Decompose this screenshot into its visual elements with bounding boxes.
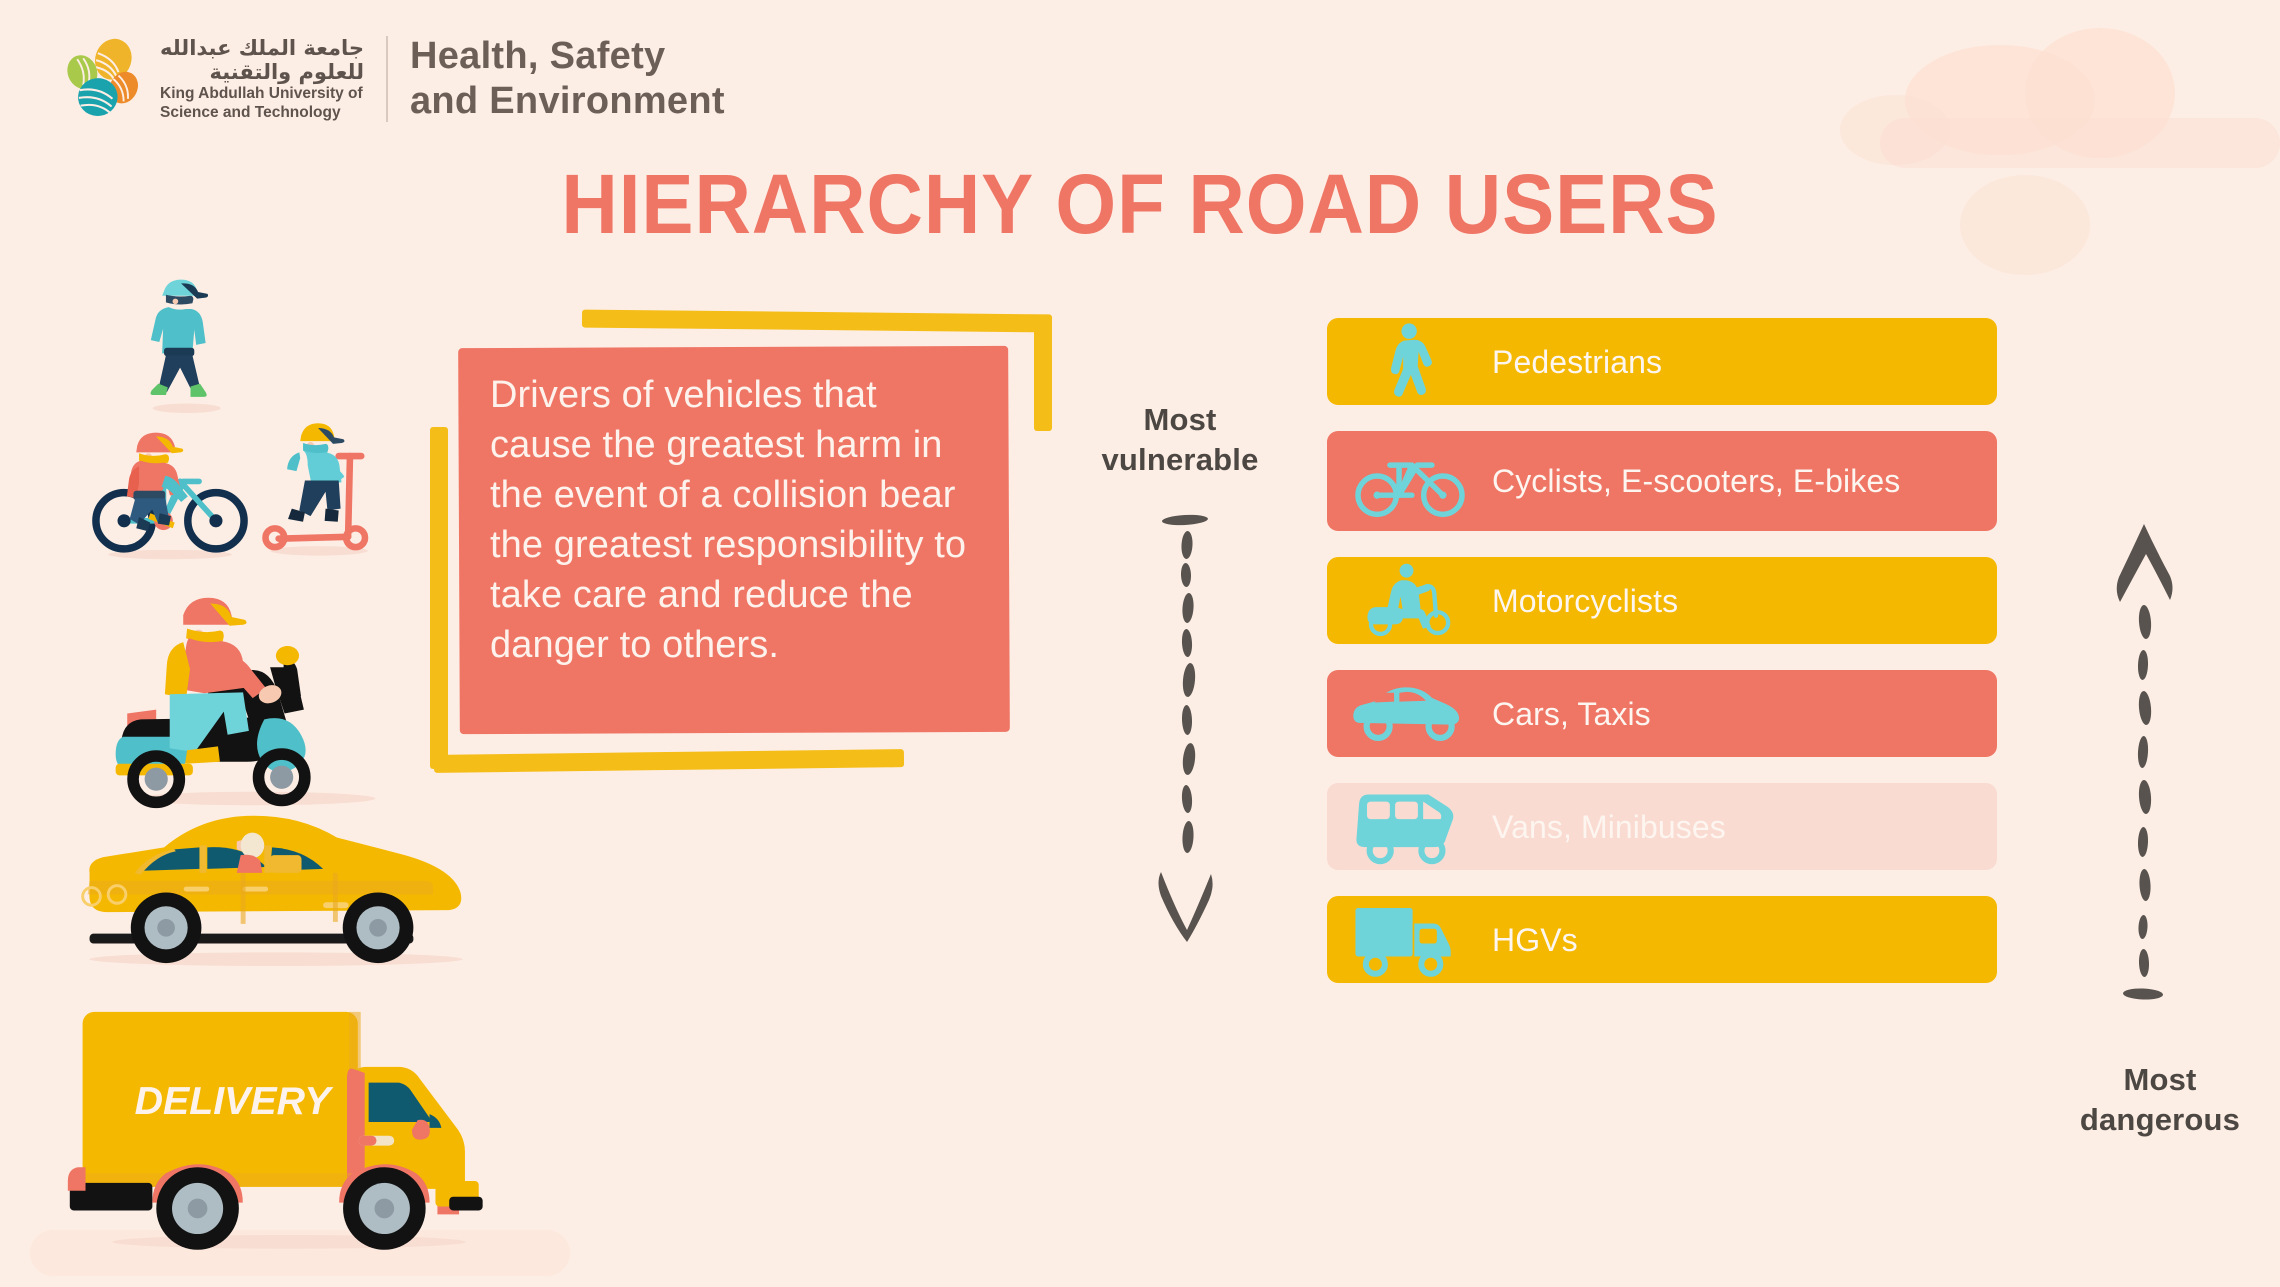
department-line2: and Environment bbox=[410, 79, 725, 124]
department-line1: Health, Safety bbox=[410, 34, 725, 79]
quote-block: Drivers of vehicles that cause the great… bbox=[430, 312, 1050, 812]
hierarchy-label: HGVs bbox=[1492, 921, 1578, 959]
most-dangerous-line1: Most bbox=[2035, 1060, 2280, 1100]
frame-bottom-bar bbox=[434, 749, 904, 773]
arabic-name-line2: للعلوم والتقنية bbox=[160, 60, 364, 84]
hierarchy-label: Pedestrians bbox=[1492, 343, 1662, 381]
quote-text: Drivers of vehicles that cause the great… bbox=[490, 370, 982, 670]
hierarchy-row-cars[interactable]: Cars, Taxis bbox=[1327, 670, 1997, 757]
header-divider bbox=[386, 36, 388, 122]
most-vulnerable-line1: Most bbox=[1060, 400, 1300, 440]
frame-top-bar bbox=[582, 310, 1052, 333]
hierarchy-row-cyclists[interactable]: Cyclists, E-scooters, E-bikes bbox=[1327, 431, 1997, 531]
walking-pedestrian-illustration bbox=[130, 272, 234, 419]
hierarchy-label: Motorcyclists bbox=[1492, 582, 1678, 620]
hierarchy-row-pedestrians[interactable]: Pedestrians bbox=[1327, 318, 1997, 405]
dashed-arrow-up-icon bbox=[2090, 520, 2200, 1040]
delivery-truck-illustration: DELIVERY bbox=[58, 988, 520, 1259]
van-icon bbox=[1327, 783, 1492, 870]
arabic-name-line1: جامعة الملك عبدالله bbox=[160, 36, 364, 60]
most-dangerous-label: Most dangerous bbox=[2035, 1060, 2280, 1140]
truck-icon bbox=[1327, 896, 1492, 983]
moped-icon bbox=[1327, 557, 1492, 644]
hierarchy-row-motorcyclists[interactable]: Motorcyclists bbox=[1327, 557, 1997, 644]
yellow-car-illustration bbox=[60, 812, 492, 974]
kaust-petals-logo-icon bbox=[60, 36, 146, 122]
university-name-block: جامعة الملك عبدالله للعلوم والتقنية King… bbox=[160, 36, 364, 122]
dashed-arrow-down-icon bbox=[1130, 512, 1240, 1022]
department-name: Health, Safety and Environment bbox=[410, 34, 725, 124]
english-name-line2: Science and Technology bbox=[160, 103, 364, 122]
infographic-canvas: جامعة الملك عبدالله للعلوم والتقنية King… bbox=[0, 0, 2280, 1287]
cyclist-illustration bbox=[90, 412, 250, 567]
frame-left-bar bbox=[430, 427, 448, 769]
e-scooter-rider-illustration bbox=[258, 418, 380, 563]
hierarchy-label: Cars, Taxis bbox=[1492, 695, 1651, 733]
most-vulnerable-line2: vulnerable bbox=[1060, 440, 1300, 480]
moped-rider-illustration bbox=[80, 590, 410, 817]
hierarchy-bar-list: Pedestrians bbox=[1327, 318, 1997, 1009]
bicycle-icon bbox=[1327, 438, 1492, 525]
hierarchy-row-vans[interactable]: Vans, Minibuses bbox=[1327, 783, 1997, 870]
hierarchy-label: Vans, Minibuses bbox=[1492, 808, 1726, 846]
pedestrian-icon bbox=[1327, 318, 1492, 405]
hierarchy-label: Cyclists, E-scooters, E-bikes bbox=[1492, 462, 1900, 500]
english-name-line1: King Abdullah University of bbox=[160, 84, 364, 103]
frame-right-bar bbox=[1034, 316, 1052, 431]
car-icon bbox=[1327, 670, 1492, 757]
most-vulnerable-label: Most vulnerable bbox=[1060, 400, 1300, 480]
page-title: HIERARCHY OF ROAD USERS bbox=[80, 158, 2200, 250]
truck-livery-text: DELIVERY bbox=[135, 1079, 335, 1123]
hierarchy-row-hgvs[interactable]: HGVs bbox=[1327, 896, 1997, 983]
most-dangerous-line2: dangerous bbox=[2035, 1100, 2280, 1140]
brand-header: جامعة الملك عبدالله للعلوم والتقنية King… bbox=[60, 34, 725, 124]
